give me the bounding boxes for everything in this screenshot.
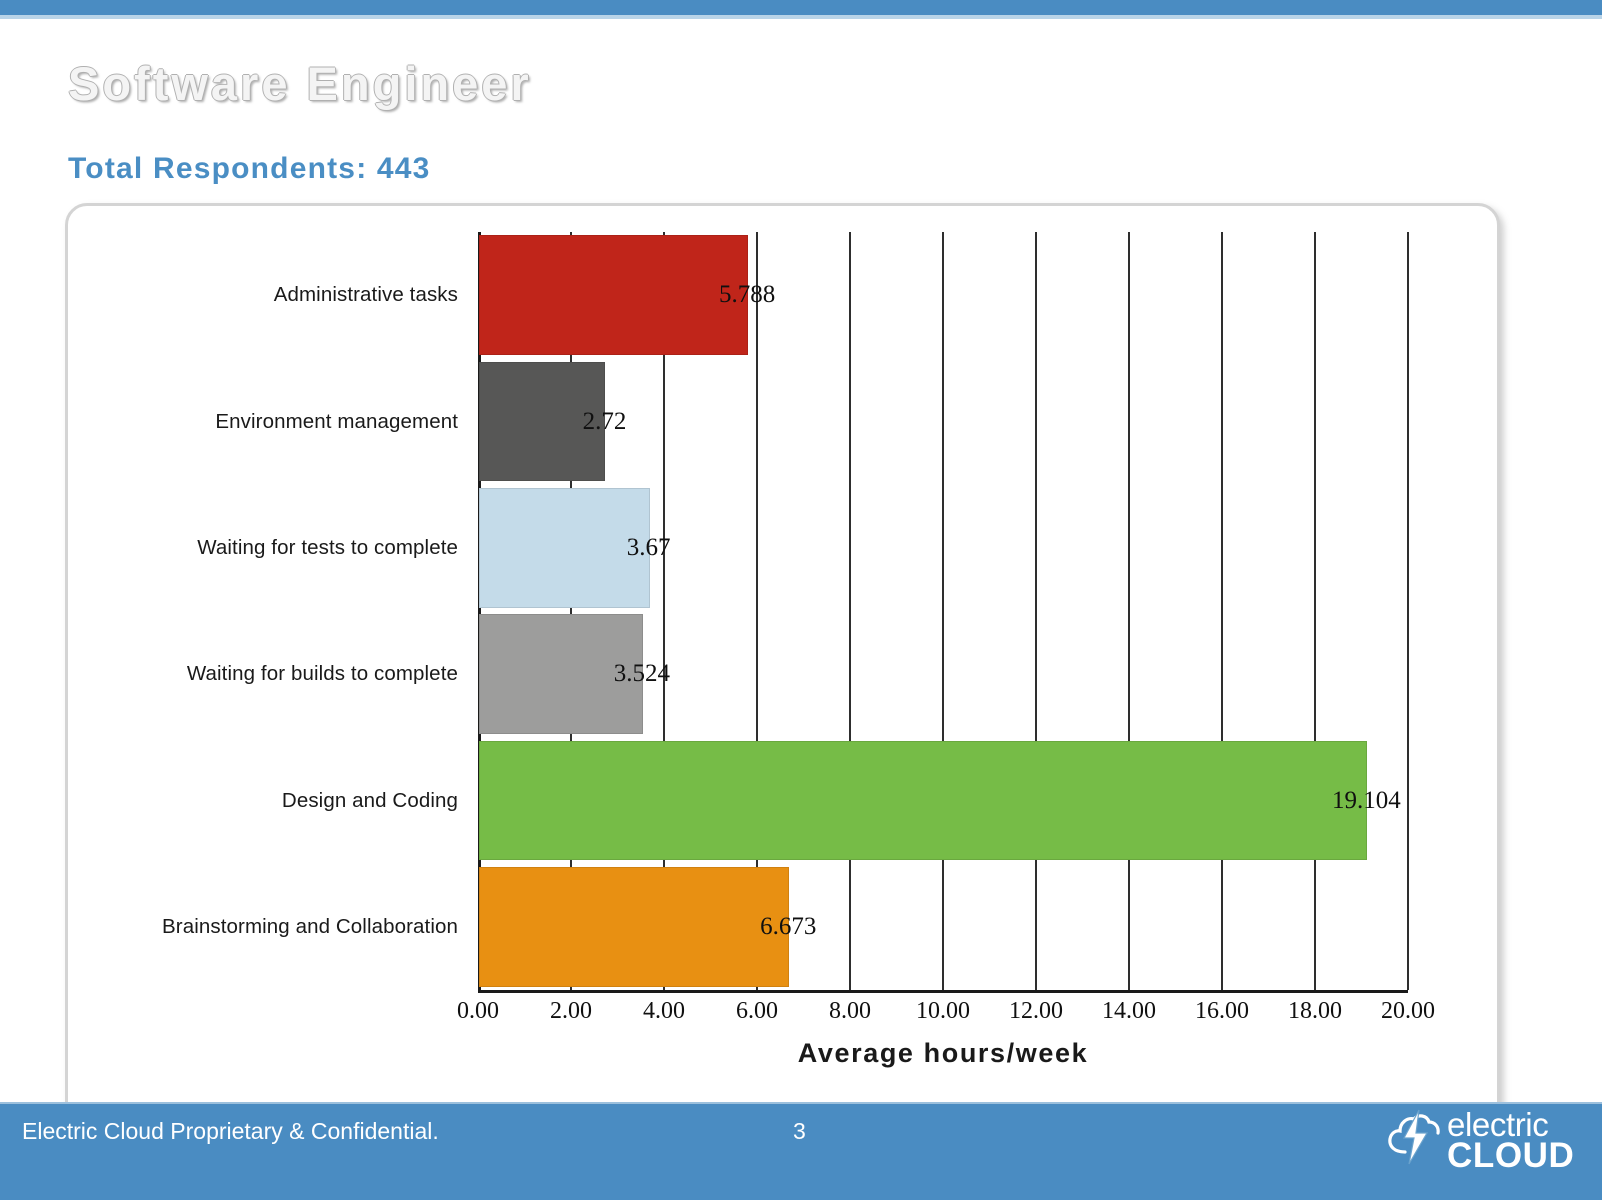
x-tick-label: 12.00 [1009,998,1063,1025]
category-label: Administrative tasks [274,283,458,307]
x-tick-label: 4.00 [643,998,685,1025]
x-tick-label: 0.00 [457,998,499,1025]
bar [479,741,1367,860]
category-label: Waiting for tests to complete [197,536,458,560]
bar [479,235,748,354]
x-axis-title: Average hours/week [478,1038,1408,1069]
confidentiality-notice: Electric Cloud Proprietary & Confidentia… [22,1118,439,1145]
bar-value-label: 6.673 [760,913,816,941]
category-label: Waiting for builds to complete [187,662,458,686]
total-respondents-label: Total Respondents: 443 [68,152,431,186]
bar [479,488,650,607]
x-tick-label: 10.00 [916,998,970,1025]
cloud-lightning-icon [1385,1106,1447,1168]
gridline [1221,232,1223,990]
page-number: 3 [793,1118,806,1145]
category-label: Brainstorming and Collaboration [162,915,458,939]
bar-value-label: 2.72 [583,408,627,436]
x-tick-label: 20.00 [1381,998,1435,1025]
gridline [1035,232,1037,990]
gridline [849,232,851,990]
x-tick-label: 14.00 [1102,998,1156,1025]
bar-value-label: 19.104 [1332,787,1401,815]
gridline [1128,232,1130,990]
x-tick-label: 16.00 [1195,998,1249,1025]
gridline [942,232,944,990]
page-title: Software Engineer [68,56,532,111]
category-label: Environment management [215,410,458,434]
bar [479,867,789,986]
x-tick-label: 18.00 [1288,998,1342,1025]
x-tick-label: 6.00 [736,998,778,1025]
top-accent-underline [0,15,1602,19]
logo-text-cloud: CLOUD [1447,1138,1574,1173]
bar-chart-plot-area: 5.7882.723.673.52419.1046.673 [478,232,1408,990]
electric-cloud-logo: electric CLOUD [1385,1098,1585,1183]
x-axis-line [478,990,1408,993]
bar-value-label: 3.524 [614,660,670,688]
x-tick-label: 2.00 [550,998,592,1025]
x-tick-label: 8.00 [829,998,871,1025]
category-axis-labels: Administrative tasksEnvironment manageme… [100,232,468,990]
category-label: Design and Coding [282,789,458,813]
gridline [1314,232,1316,990]
gridline [1407,232,1409,990]
bar-value-label: 5.788 [719,281,775,309]
bar-value-label: 3.67 [627,534,671,562]
top-accent-band [0,0,1602,15]
x-axis-tick-labels: 0.002.004.006.008.0010.0012.0014.0016.00… [478,998,1408,1032]
